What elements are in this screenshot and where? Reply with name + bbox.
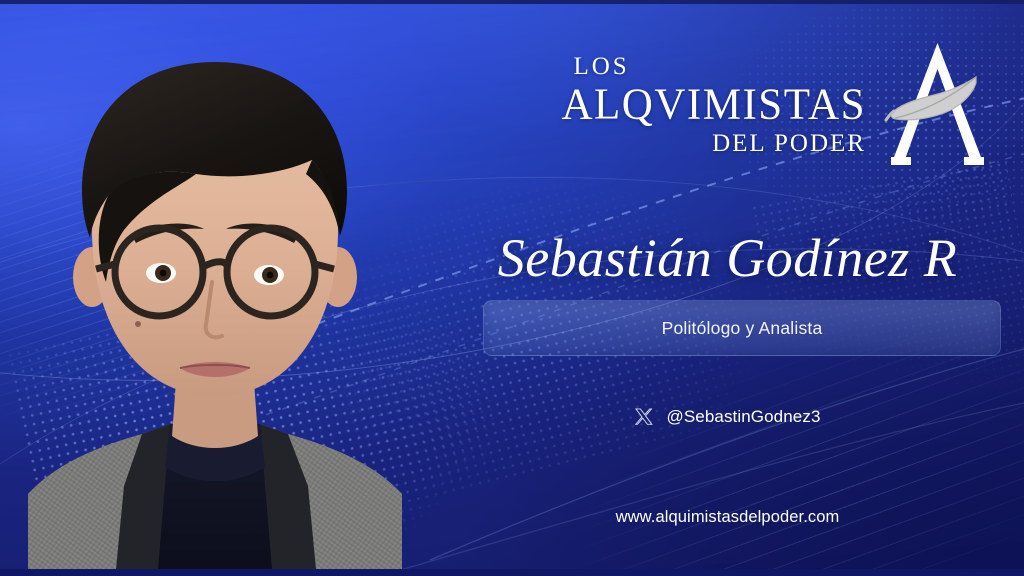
brand-line-alqvimistas: ALQVIMISTAS xyxy=(561,82,866,127)
social-handle-row[interactable]: @SebastinGodnez3 xyxy=(455,402,1000,432)
bottom-bleed-strip xyxy=(0,569,1024,576)
speaker-role-bar: Politólogo y Analista xyxy=(483,300,1001,356)
speaker-portrait xyxy=(20,24,410,569)
letter-a-with-quill-feather-icon xyxy=(880,35,995,175)
brand-line-los: LOS xyxy=(573,54,629,79)
brand-wordmark: LOS ALQVIMISTAS DEL PODER xyxy=(561,54,866,156)
brand-line-del-poder: DEL PODER xyxy=(712,131,866,156)
brand-logo: LOS ALQVIMISTAS DEL PODER xyxy=(575,30,995,180)
speaker-name: Sebastián Godínez R xyxy=(455,227,1000,289)
top-bleed-strip xyxy=(0,0,1024,4)
x-twitter-icon[interactable] xyxy=(634,407,655,428)
speaker-role-label: Politólogo y Analista xyxy=(662,318,823,339)
social-handle-text[interactable]: @SebastinGodnez3 xyxy=(666,407,820,427)
promo-banner: LOS ALQVIMISTAS DEL PODER Sebastián Godí… xyxy=(0,0,1024,576)
website-url[interactable]: www.alquimistasdelpoder.com xyxy=(455,508,1000,527)
